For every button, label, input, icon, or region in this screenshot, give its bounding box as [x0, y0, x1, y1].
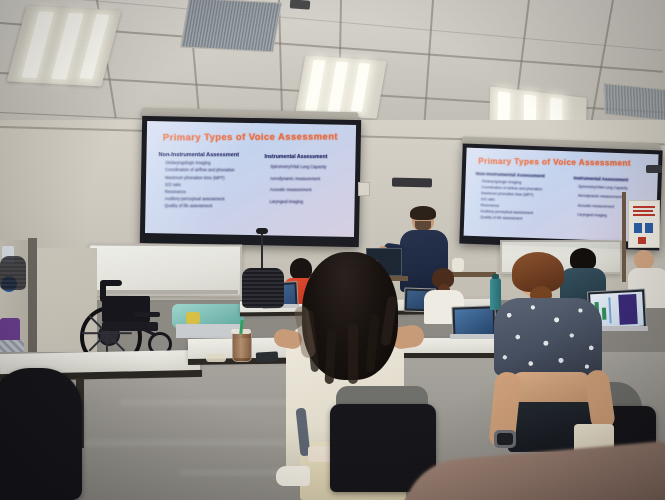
slide-bullet: Quality of life assessment	[165, 203, 262, 209]
wall-poster	[628, 200, 660, 248]
slide-bullet: Coordination of airflow and phonation	[481, 185, 563, 192]
slide-bullet: Acoustic measurement	[270, 187, 352, 192]
slide-column-heading: Non-Instrumental Assessment	[476, 172, 570, 180]
slide-bullet: Laryngeal imaging	[270, 198, 352, 203]
door-frame	[622, 192, 626, 282]
left-projection-screen[interactable]: Primary Types of Voice Assessment Non-In…	[140, 116, 361, 247]
wall-speaker	[646, 165, 662, 173]
laptop-base	[450, 334, 498, 339]
iced-coffee-cup	[232, 326, 250, 360]
slide-bullet: Otolaryngologic Imaging	[481, 179, 569, 186]
slide-bullet: Spirometry/Vital Lung Capacity	[270, 164, 352, 169]
left-slide: Primary Types of Voice Assessment Non-In…	[145, 121, 356, 237]
chair-mesh-back[interactable]	[242, 268, 284, 308]
slide-bullet: S/Z ratio	[165, 182, 262, 188]
slide-bullet: Auditory-perceptual assessment	[165, 196, 262, 202]
cabinet-post	[28, 238, 37, 362]
instructor-hair	[410, 206, 436, 220]
slide-bullet: S/Z ratio	[481, 198, 569, 205]
smartwatch	[494, 430, 516, 448]
slide-title: Primary Types of Voice Assessment	[163, 132, 338, 144]
ceiling-light-left	[7, 6, 122, 87]
student-head	[634, 250, 654, 270]
chair-mesh-left[interactable]	[0, 256, 26, 290]
slide-title: Primary Types of Voice Assessment	[478, 157, 631, 168]
ceiling-vent-panel	[603, 83, 665, 122]
slide-bullet: Auditory-perceptual assessment	[480, 210, 568, 217]
slide-column-heading: Instrumental Assessment	[264, 154, 352, 160]
wall-speaker	[392, 178, 432, 188]
slide-column-heading: Non-Instrumental Assessment	[158, 152, 262, 158]
ceiling-light-center	[295, 55, 386, 119]
slide-bullet: Otolaryngologic Imaging	[165, 160, 262, 166]
slide-bullet: Resonance	[165, 189, 262, 195]
microphone-head	[256, 228, 268, 234]
slide-bullet: Maximum phonation time (MPT)	[481, 192, 569, 199]
sneaker	[276, 466, 310, 486]
slide-bullet: Maximum phonation time (MPT)	[165, 175, 262, 181]
cart-item-yellow	[186, 312, 200, 324]
student-shirt	[494, 298, 602, 376]
slide-bullet: Spirometry/Vital Lung Capacity	[578, 184, 653, 191]
chair-bottom-left[interactable]	[0, 368, 82, 500]
classroom-photo: Primary Types of Voice Assessment Non-In…	[0, 0, 665, 500]
slide-bullet: Quality of life assessment	[480, 216, 568, 223]
slide-bullet: Aerodynamic measurement	[270, 175, 352, 180]
tote-contents	[308, 446, 332, 462]
slide-column-heading: Instrumental Assessment	[574, 175, 654, 183]
wall-thermostat	[358, 182, 370, 196]
ceiling-vent-panel	[180, 0, 282, 52]
slide-bullet: Resonance	[481, 204, 569, 211]
ceiling-projector	[290, 0, 311, 10]
snack-on-table	[206, 354, 226, 362]
slide-bullet: Coordination of airflow and phonation	[165, 168, 257, 173]
